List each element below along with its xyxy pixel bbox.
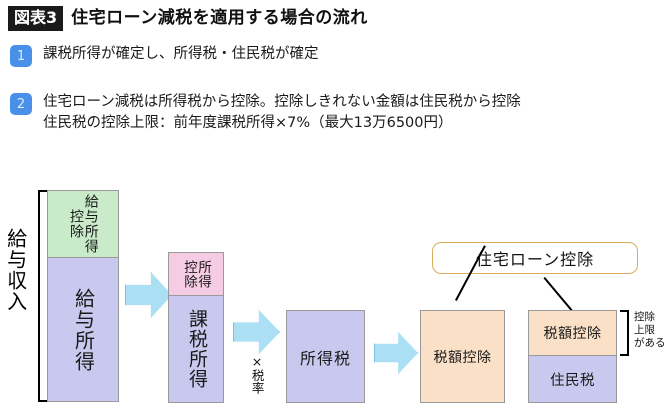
- cap-limit-note: 控除 上限 がある: [634, 311, 668, 350]
- box-tax-credit-capped: 税額控除: [528, 310, 617, 356]
- tax-rate-word: 税率: [250, 369, 263, 394]
- page-title: 住宅ローン減税を適用する場合の流れ: [71, 10, 368, 27]
- figure-number-badge: 図表3: [8, 6, 63, 31]
- arrow-right-1: [125, 272, 172, 318]
- step-line: 課税所得が確定し、所得税・住民税が確定: [43, 46, 319, 62]
- cap-note-line: がある: [634, 337, 668, 350]
- box-salary-income-deduction: 給与所得控除: [47, 190, 119, 258]
- arrow-right-2: [233, 310, 280, 354]
- cap-note-line: 上限: [634, 324, 668, 337]
- header: 図表3 住宅ローン減税を適用する場合の流れ: [8, 6, 368, 31]
- cap-limit-bracket: [620, 310, 629, 356]
- step-line: 住民税の控除上限：前年度課税所得×7%（最大13万6500円）: [43, 113, 521, 134]
- arrow-right-3: [374, 332, 418, 374]
- step-item-1: 1 課税所得が確定し、所得税・住民税が確定: [10, 44, 319, 67]
- step-number-badge-1: 1: [10, 45, 32, 67]
- box-salary-income-amount: 給与所得: [47, 257, 119, 402]
- box-tax-credit-full: 税額控除: [420, 310, 505, 403]
- step-item-2: 2 住宅ローン減税は所得税から控除。控除しきれない金額は住民税から控除 住民税の…: [10, 92, 521, 134]
- cap-note-line: 控除: [634, 311, 668, 324]
- box-income-deduction: 所得控除: [168, 252, 224, 296]
- step-text-1: 課税所得が確定し、所得税・住民税が確定: [43, 44, 319, 65]
- callout-housing-loan-deduction: 住宅ローン控除: [432, 242, 638, 274]
- tax-rate-symbol: ×: [240, 355, 274, 369]
- box-income-tax: 所得税: [286, 310, 365, 403]
- tax-rate-label: × 税率: [240, 355, 274, 394]
- step-text-2: 住宅ローン減税は所得税から控除。控除しきれない金額は住民税から控除 住民税の控除…: [43, 92, 521, 134]
- step-line: 住宅ローン減税は所得税から控除。控除しきれない金額は住民税から控除: [43, 92, 521, 113]
- step-number-badge-2: 2: [10, 93, 32, 115]
- box-taxable-income: 課税所得: [168, 295, 224, 403]
- box-resident-tax: 住民税: [528, 355, 617, 403]
- diagram-left-label-salary-income: 給与収入: [4, 228, 26, 312]
